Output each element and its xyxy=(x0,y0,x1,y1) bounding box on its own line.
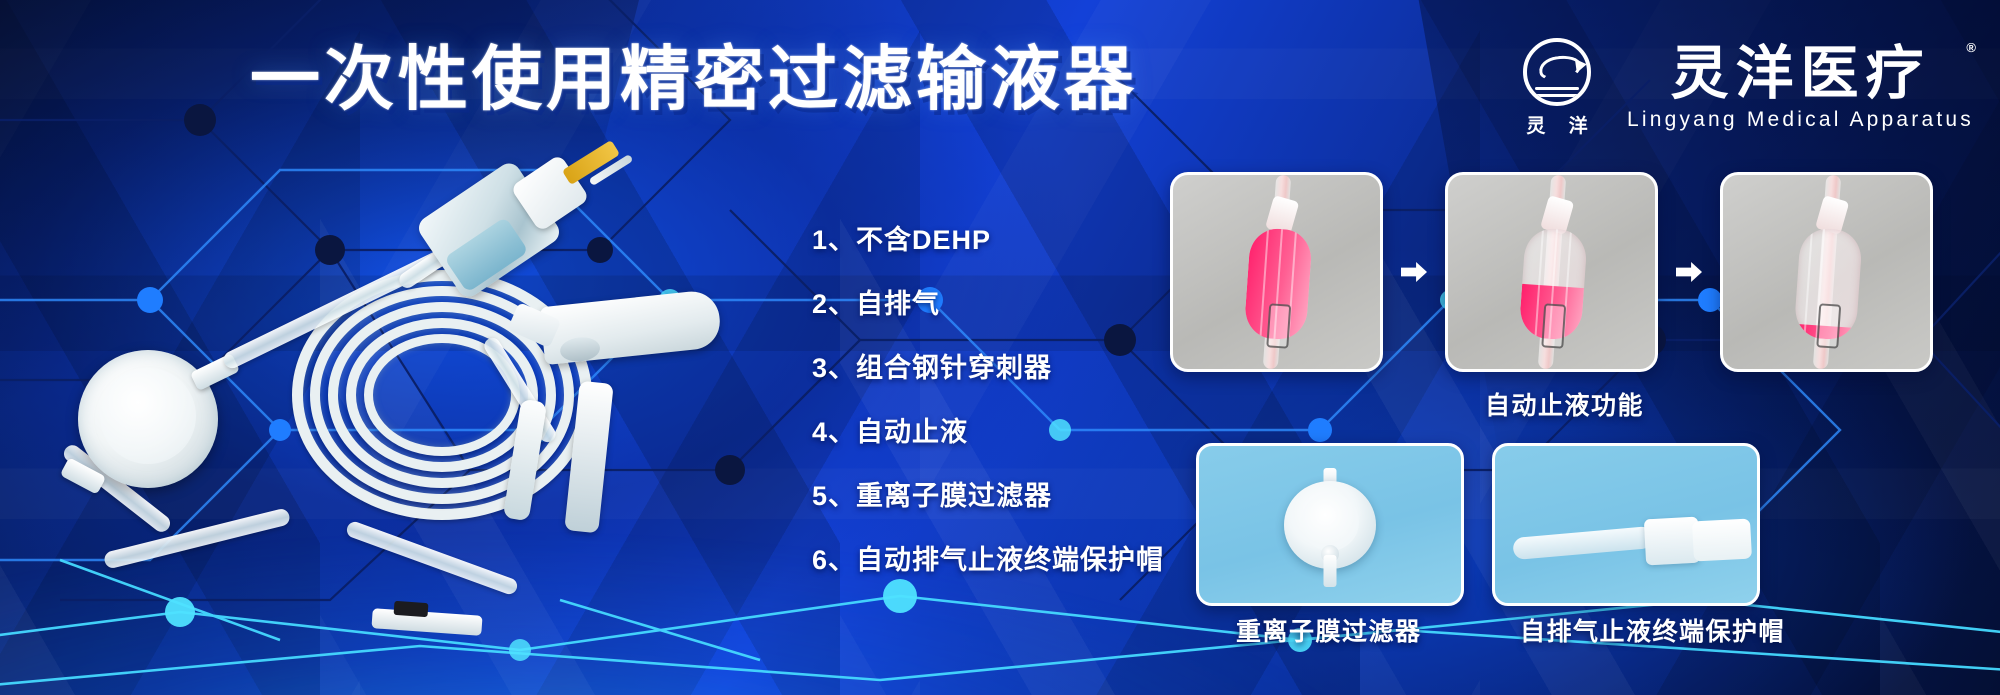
tube-clip xyxy=(1541,303,1566,348)
tube-clip xyxy=(1266,303,1291,348)
feature-item-6: 6、自动排气止液终端保护帽 xyxy=(812,538,1164,577)
feature-item-1: 1、不含DEHP xyxy=(812,218,1164,257)
feature-item-3: 3、组合钢针穿刺器 xyxy=(812,346,1164,385)
circle-fish-wave-icon xyxy=(1523,38,1591,106)
tubing xyxy=(1512,526,1653,560)
needle-wing xyxy=(394,601,429,617)
auto-stop-demo-sequence xyxy=(1170,172,1933,372)
product-photo xyxy=(42,150,772,570)
sequence-arrow-2 xyxy=(1658,262,1720,282)
logo-mark-label: 灵 洋 xyxy=(1517,111,1596,138)
luer-lock-hub xyxy=(1644,517,1700,566)
feature-list: 1、不含DEHP 2、自排气 3、组合钢针穿刺器 4、自动止液 5、重离子膜过滤… xyxy=(812,218,1164,577)
page-title: 一次性使用精密过滤输液器 xyxy=(250,44,1138,114)
sequence-arrow-1 xyxy=(1383,262,1445,282)
registered-trademark-icon: ® xyxy=(1966,40,1976,55)
brand-text: 灵洋医疗 Lingyang Medical Apparatus xyxy=(1627,44,1974,131)
feature-item-2: 2、自排气 xyxy=(812,282,1164,321)
tube-clip xyxy=(1816,303,1841,348)
demo-sequence-caption: 自动止液功能 xyxy=(1485,386,1644,422)
brand-name-cn: 灵洋医疗 xyxy=(1670,44,1930,103)
tube-left-curve xyxy=(103,507,291,569)
protective-end-cap xyxy=(1692,519,1752,562)
arrow-right-icon xyxy=(1401,262,1427,282)
demo-photo-step-3 xyxy=(1720,172,1933,372)
feature-item-5: 5、重离子膜过滤器 xyxy=(812,474,1164,513)
demo-photo-step-1 xyxy=(1170,172,1383,372)
arrow-right-icon xyxy=(1676,262,1702,282)
chamber-rib xyxy=(1803,228,1813,338)
brand-name-en: Lingyang Medical Apparatus xyxy=(1627,108,1974,132)
detail-photo-heavy-ion-filter xyxy=(1196,443,1464,606)
tube-to-needle xyxy=(345,520,520,597)
wave-icon xyxy=(1535,87,1579,90)
demo-photo-step-2 xyxy=(1445,172,1658,372)
detail-panel-row xyxy=(1196,443,1760,606)
logo-mark: ® 灵 洋 xyxy=(1505,38,1609,138)
brand-logo: ® 灵 洋 灵洋医疗 Lingyang Medical Apparatus xyxy=(1505,38,1974,138)
filter-outlet-nub xyxy=(1324,555,1337,587)
product-banner: 一次性使用精密过滤输液器 ® 灵 洋 灵洋医疗 Lingyang Medical… xyxy=(0,0,2000,695)
detail-caption-end-cap: 自排气止液终端保护帽 xyxy=(1520,612,1785,648)
feature-item-4: 4、自动止液 xyxy=(812,410,1164,449)
detail-photo-end-cap xyxy=(1492,443,1760,606)
fish-icon xyxy=(1537,53,1582,83)
detail-caption-filter: 重离子膜过滤器 xyxy=(1236,612,1422,648)
